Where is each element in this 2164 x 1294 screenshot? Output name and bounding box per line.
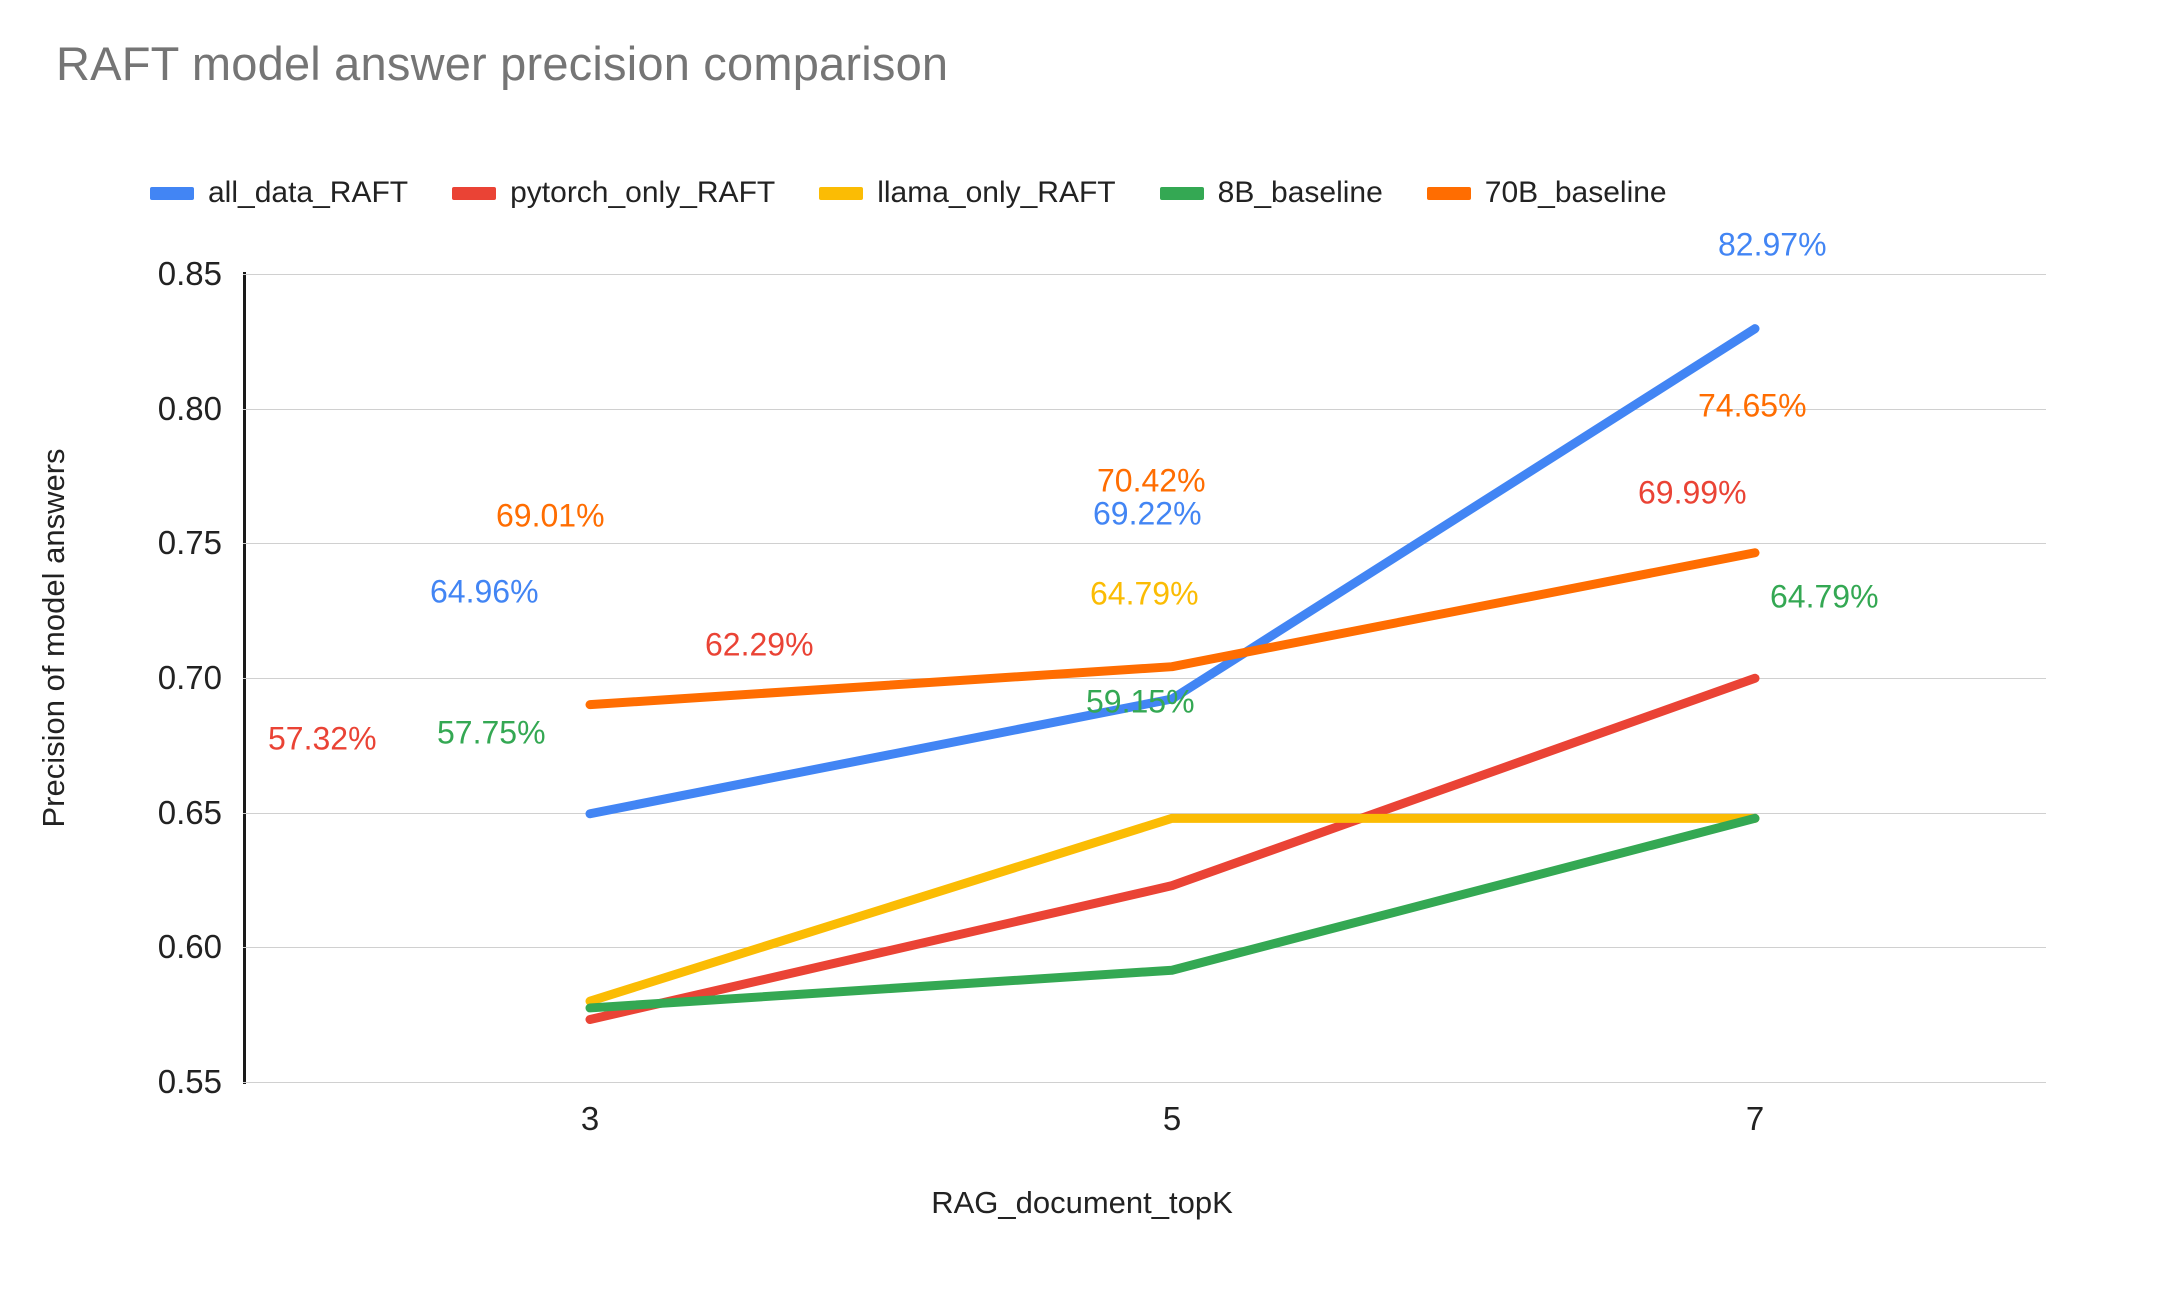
gridline [243, 1082, 2046, 1083]
legend-swatch-icon [452, 187, 496, 200]
data-point-label: 69.01% [496, 498, 605, 535]
chart-legend: all_data_RAFTpytorch_only_RAFTllama_only… [150, 172, 1711, 214]
chart-title: RAFT model answer precision comparison [56, 36, 948, 91]
x-axis-tick-label: 3 [581, 1100, 599, 1138]
y-axis-tick-label: 0.85 [158, 255, 222, 293]
y-axis-tick-label: 0.80 [158, 390, 222, 428]
legend-item-all-data-raft[interactable]: all_data_RAFT [150, 176, 408, 210]
legend-swatch-icon [150, 187, 194, 200]
legend-item-8b-baseline[interactable]: 8B_baseline [1160, 176, 1383, 210]
data-point-label: 70.42% [1097, 463, 1206, 500]
legend-item-label: 8B_baseline [1218, 176, 1383, 210]
legend-item-label: pytorch_only_RAFT [510, 176, 775, 210]
legend-item-label: 70B_baseline [1485, 176, 1667, 210]
y-axis-tick-label: 0.65 [158, 794, 222, 832]
legend-item-pytorch-only-raft[interactable]: pytorch_only_RAFT [452, 176, 775, 210]
data-point-label: 82.97% [1718, 227, 1827, 264]
data-point-label: 62.29% [705, 627, 814, 664]
x-axis-tick-label: 7 [1746, 1100, 1764, 1138]
y-axis-tick-label: 0.75 [158, 524, 222, 562]
y-axis-tick-label: 0.55 [158, 1063, 222, 1101]
x-axis-title: RAG_document_topK [0, 1185, 2164, 1221]
data-point-label: 57.32% [268, 721, 377, 758]
gridline [243, 947, 2046, 948]
y-axis-tick-label: 0.70 [158, 659, 222, 697]
data-point-label: 69.99% [1638, 475, 1747, 512]
data-point-label: 64.79% [1770, 579, 1879, 616]
x-axis-ticks: 357 [243, 1100, 2046, 1150]
legend-swatch-icon [1427, 187, 1471, 200]
legend-item-label: all_data_RAFT [208, 176, 408, 210]
legend-item-label: llama_only_RAFT [877, 176, 1115, 210]
legend-item-llama-only-raft[interactable]: llama_only_RAFT [819, 176, 1115, 210]
data-point-label: 69.22% [1093, 496, 1202, 533]
gridline [243, 813, 2046, 814]
data-point-label: 74.65% [1698, 388, 1807, 425]
data-point-label: 64.79% [1090, 576, 1199, 613]
data-point-label: 64.96% [430, 574, 539, 611]
data-point-label: 57.75% [437, 715, 546, 752]
legend-swatch-icon [1160, 187, 1204, 200]
x-axis-tick-label: 5 [1163, 1100, 1181, 1138]
legend-item-70b-baseline[interactable]: 70B_baseline [1427, 176, 1667, 210]
y-axis-ticks: 0.850.800.750.700.650.600.55 [100, 274, 222, 1082]
gridline [243, 274, 2046, 275]
legend-swatch-icon [819, 187, 863, 200]
data-point-label: 59.15% [1086, 684, 1195, 721]
y-axis-tick-label: 0.60 [158, 928, 222, 966]
gridline [243, 678, 2046, 679]
gridline [243, 543, 2046, 544]
y-axis-title: Precision of model answers [36, 378, 72, 898]
chart-container: RAFT model answer precision comparison a… [0, 0, 2164, 1294]
